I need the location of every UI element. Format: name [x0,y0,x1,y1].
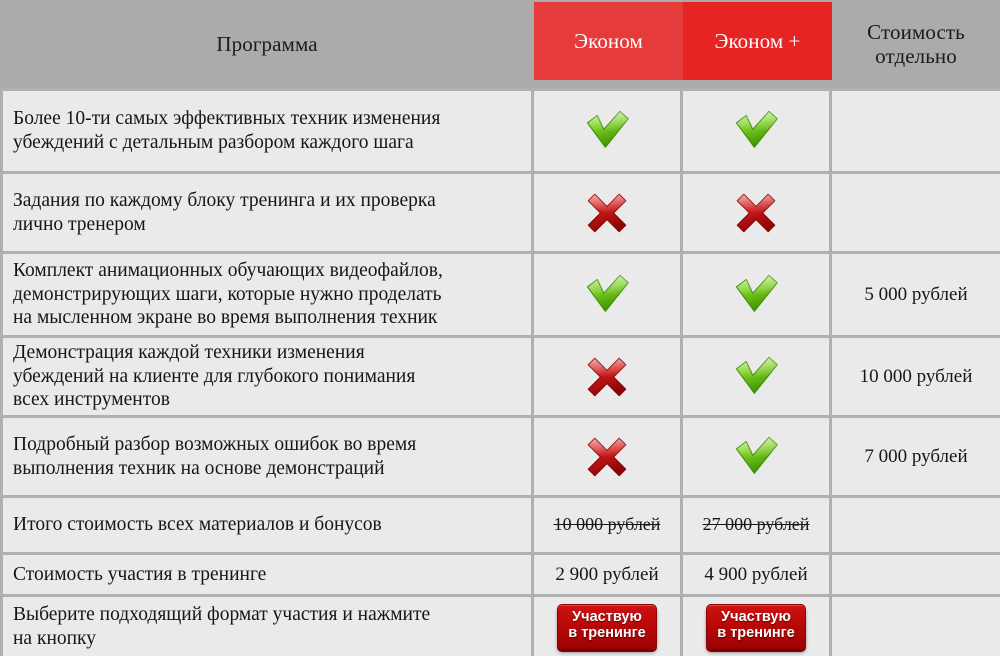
econom-plus-cta-cell: Участвую в тренинге [683,597,832,656]
table-header-row: Программа Эконом Эконом + Стоимость отде… [0,0,1000,88]
separate-price-cell [832,555,1000,594]
feature-description: Демонстрация каждой техники изменения уб… [0,338,534,415]
feature-description-line: Задания по каждому блоку тренинга и их п… [13,189,436,213]
econom-plus-availability-cell [683,174,832,251]
column-header-econom-plus-label: Эконом + [714,29,800,53]
econom-plus-participation-price-cell: 4 900 рублей [683,555,832,594]
red-cross-icon [730,187,782,239]
totals-label: Итого стоимость всех материалов и бонусо… [0,498,534,552]
econom-plus-participation-price: 4 900 рублей [683,564,829,586]
green-check-icon [730,269,782,321]
feature-description-line: лично тренером [13,213,436,237]
cta-instruction-line: Выберите подходящий формат участия и наж… [13,603,430,627]
econom-availability-cell [534,418,683,495]
red-cross-icon [581,351,633,403]
green-check-icon [730,351,782,403]
econom-plus-join-button-line2: в тренинге [717,626,795,642]
feature-description-line: на мысленном экране во время выполнения … [13,306,443,330]
separate-price-cell [832,174,1000,251]
green-check-icon [730,105,782,157]
feature-description-line: убеждений на клиенте для глубокого поним… [13,365,415,389]
table-row: Подробный разбор возможных ошибок во вре… [0,415,1000,495]
separate-price-cell: 5 000 рублей [832,254,1000,335]
column-header-econom: Эконом [534,2,683,80]
table-body: Более 10-ти самых эффективных техник изм… [0,88,1000,656]
table-row: Комплект анимационных обучающих видеофай… [0,251,1000,335]
econom-availability-cell [534,254,683,335]
econom-availability-cell [534,174,683,251]
column-header-separate-price-line2: отдельно [867,44,965,68]
column-header-econom-label: Эконом [574,29,643,53]
green-check-icon [730,431,782,483]
feature-description-line: всех инструментов [13,388,415,412]
econom-total-price-cell: 10 000 рублей [534,498,683,552]
econom-plus-join-button[interactable]: Участвую в тренинге [706,604,806,648]
econom-plus-join-button-line1: Участвую [717,610,795,626]
column-header-econom-plus: Эконом + [683,2,832,80]
feature-description-line: Демонстрация каждой техники изменения [13,341,415,365]
separate-price-cell [832,498,1000,552]
participation-label: Стоимость участия в тренинге [0,555,534,594]
feature-description-line: выполнения техник на основе демонстраций [13,457,416,481]
cta-row: Выберите подходящий формат участия и наж… [0,594,1000,656]
table-row: Более 10-ти самых эффективных техник изм… [0,88,1000,171]
column-header-program: Программа [0,0,534,88]
econom-availability-cell [534,91,683,171]
separate-price-cell: 7 000 рублей [832,418,1000,495]
separate-price-cell [832,91,1000,171]
separate-price-cell [832,597,1000,656]
feature-description: Комплект анимационных обучающих видеофай… [0,254,534,335]
totals-label-text: Итого стоимость всех материалов и бонусо… [13,513,382,537]
econom-participation-price-cell: 2 900 рублей [534,555,683,594]
column-header-separate-price-line1: Стоимость [867,20,965,44]
comparison-table: Программа Эконом Эконом + Стоимость отде… [0,0,1000,653]
table-row: Демонстрация каждой техники изменения уб… [0,335,1000,415]
econom-plus-availability-cell [683,254,832,335]
econom-old-price: 10 000 рублей [534,514,680,536]
participation-price-row: Стоимость участия в тренинге 2 900 рубле… [0,552,1000,594]
red-cross-icon [581,431,633,483]
column-header-program-label: Программа [216,32,317,56]
econom-plus-old-price: 27 000 рублей [683,514,829,536]
separate-price-value: 7 000 рублей [832,446,1000,468]
econom-cta-cell: Участвую в тренинге [534,597,683,656]
feature-description-line: убеждений с детальным разбором каждого ш… [13,131,440,155]
table-row: Задания по каждому блоку тренинга и их п… [0,171,1000,251]
feature-description: Подробный разбор возможных ошибок во вре… [0,418,534,495]
feature-description-line: Более 10-ти самых эффективных техник изм… [13,107,440,131]
econom-join-button-line2: в тренинге [568,626,646,642]
feature-description-line: Подробный разбор возможных ошибок во вре… [13,433,416,457]
econom-plus-availability-cell [683,338,832,415]
cta-instruction-line: на кнопку [13,627,430,651]
econom-plus-availability-cell [683,91,832,171]
feature-description-line: демонстрирующих шаги, которые нужно прод… [13,283,443,307]
econom-plus-availability-cell [683,418,832,495]
red-cross-icon [581,187,633,239]
feature-description: Более 10-ти самых эффективных техник изм… [0,91,534,171]
separate-price-cell: 10 000 рублей [832,338,1000,415]
column-header-separate-price: Стоимость отдельно [832,0,1000,88]
econom-availability-cell [534,338,683,415]
participation-label-text: Стоимость участия в тренинге [13,563,266,587]
green-check-icon [581,105,633,157]
cta-instruction: Выберите подходящий формат участия и наж… [0,597,534,656]
separate-price-value: 10 000 рублей [832,366,1000,388]
econom-join-button[interactable]: Участвую в тренинге [557,604,657,648]
econom-join-button-line1: Участвую [568,610,646,626]
totals-row: Итого стоимость всех материалов и бонусо… [0,495,1000,552]
econom-plus-total-price-cell: 27 000 рублей [683,498,832,552]
econom-participation-price: 2 900 рублей [534,564,680,586]
feature-description: Задания по каждому блоку тренинга и их п… [0,174,534,251]
feature-description-line: Комплект анимационных обучающих видеофай… [13,259,443,283]
separate-price-value: 5 000 рублей [832,284,1000,306]
green-check-icon [581,269,633,321]
